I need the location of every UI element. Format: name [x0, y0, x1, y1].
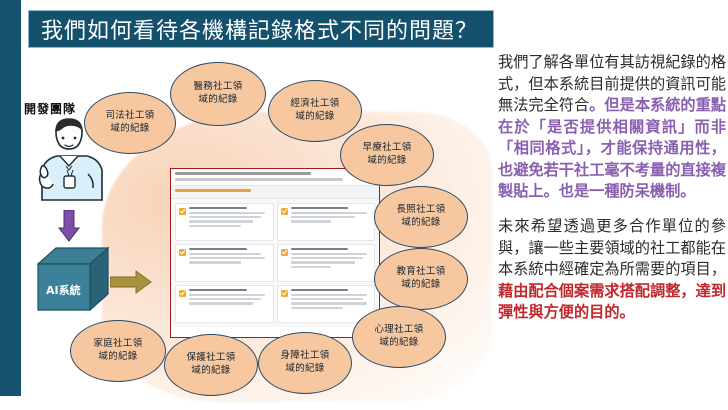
checkbox-checked-icon[interactable]	[281, 249, 288, 256]
checkbox-checked-icon[interactable]	[179, 249, 186, 256]
paragraph-2: 未來希望透過更多合作單位的參與，讓一些主要領域的社工都能在本系統中經確定為所需要…	[498, 216, 726, 324]
checkbox-checked-icon[interactable]	[281, 290, 288, 297]
ellipse-judicial[interactable]: 司法社工領域的紀錄	[84, 92, 176, 154]
ellipse-disability[interactable]: 身障社工領域的紀錄	[258, 332, 352, 394]
ellipse-line1: 經濟社工領	[290, 98, 339, 109]
para2-emphasis: 藉由配合個案需求搭配調整，達到彈性與方便的目的。	[498, 282, 726, 322]
ellipse-line2: 域的紀錄	[401, 279, 440, 290]
ellipse-line2: 域的紀錄	[198, 94, 237, 105]
embedded-screenshot-panel[interactable]: 三、個案狀況、其他評估項目（可只填寫部分條目） 工可只填選擇或可用項目，僅需填該…	[170, 168, 380, 338]
header-title-line	[175, 172, 311, 175]
ellipse-line2: 域的紀錄	[98, 351, 137, 362]
section-label-line	[175, 189, 251, 192]
left-accent-bar	[0, 0, 21, 396]
ellipse-line1: 教育社工領	[396, 266, 445, 277]
checkbox-checked-icon[interactable]	[179, 208, 186, 215]
ellipse-line2: 域的紀錄	[295, 111, 334, 122]
ellipse-line2: 域的紀錄	[367, 155, 406, 166]
ellipse-line1: 司法社工領	[105, 110, 154, 121]
ai-system-box	[34, 242, 112, 314]
panel-card[interactable]: 個案狀況 - (一)法律相關狀況	[175, 203, 274, 241]
right-text-column: 我們了解各單位有其訪視紀錄的格式，但本系統目前提供的資訊可能無法完全符合。但是本…	[498, 52, 726, 404]
ellipse-line2: 域的紀錄	[379, 337, 418, 348]
para2-plain: 未來希望透過更多合作單位的參與，讓一些主要領域的社工都能在本系統中經確定為所需要…	[498, 217, 726, 278]
arrow-right-icon	[110, 270, 152, 294]
ellipse-medical[interactable]: 醫務社工領域的紀錄	[170, 62, 266, 126]
page-title: 我們如何看待各機構記錄格式不同的問題？	[41, 13, 478, 45]
paragraph-1: 我們了解各單位有其訪視紀錄的格式，但本系統目前提供的資訊可能無法完全符合。但是本…	[498, 52, 726, 203]
panel-section-row[interactable]: 全選所有評估項目（必勾）	[171, 186, 379, 199]
panel-card[interactable]: 個案狀況 - (六)醫療相關狀況	[277, 285, 376, 323]
arrow-down-icon	[58, 210, 80, 242]
ellipse-family[interactable]: 家庭社工領域的紀錄	[70, 320, 166, 382]
checkbox-checked-icon[interactable]	[281, 208, 288, 215]
ellipse-line2: 域的紀錄	[401, 217, 440, 228]
diagram-canvas: 開發團隊 AI系統	[22, 52, 492, 402]
panel-card[interactable]: 個案狀況 - (五)早療整合相關狀況	[175, 285, 274, 323]
ellipse-line1: 家庭社工領	[93, 338, 142, 349]
ellipse-psychological[interactable]: 心理社工領域的紀錄	[352, 306, 446, 368]
ellipse-line1: 保護社工領	[186, 352, 235, 363]
panel-card[interactable]: 個案狀況 - (二)經濟相關狀況	[277, 203, 376, 241]
panel-card[interactable]: 個案狀況 - (三)心理相關狀況	[175, 244, 274, 282]
ellipse-line1: 醫務社工領	[193, 81, 242, 92]
ellipse-line1: 早療社工領	[362, 142, 411, 153]
ellipse-line1: 心理社工領	[374, 324, 423, 335]
ellipse-line2: 域的紀錄	[285, 363, 324, 374]
ellipse-line1: 長照社工領	[396, 204, 445, 215]
ellipse-line1: 身障社工領	[280, 350, 329, 361]
panel-card[interactable]: 個案狀況 - (四)教養相關狀況	[277, 244, 376, 282]
ellipse-early-intervention[interactable]: 早療社工領域的紀錄	[340, 124, 434, 186]
ai-system-label: AI系統	[46, 282, 81, 298]
ellipse-line2: 域的紀錄	[110, 123, 149, 134]
ellipse-protection[interactable]: 保護社工領域的紀錄	[164, 334, 258, 396]
checkbox-checked-icon[interactable]	[179, 290, 186, 297]
slide-title-band: 我們如何看待各機構記錄格式不同的問題？	[28, 10, 494, 48]
ellipse-longterm-care[interactable]: 長照社工領域的紀錄	[374, 186, 468, 248]
header-note-line	[175, 178, 343, 181]
slide-root: 我們如何看待各機構記錄格式不同的問題？ 開發團隊	[0, 0, 728, 410]
ellipse-economic[interactable]: 經濟社工領域的紀錄	[268, 80, 362, 142]
ellipse-line2: 域的紀錄	[191, 365, 230, 376]
ellipse-education[interactable]: 教育社工領域的紀錄	[374, 248, 468, 310]
panel-card-grid: 個案狀況 - (一)法律相關狀況 個案狀況 - (二)經濟相關狀況 個案狀況 -…	[171, 199, 379, 327]
